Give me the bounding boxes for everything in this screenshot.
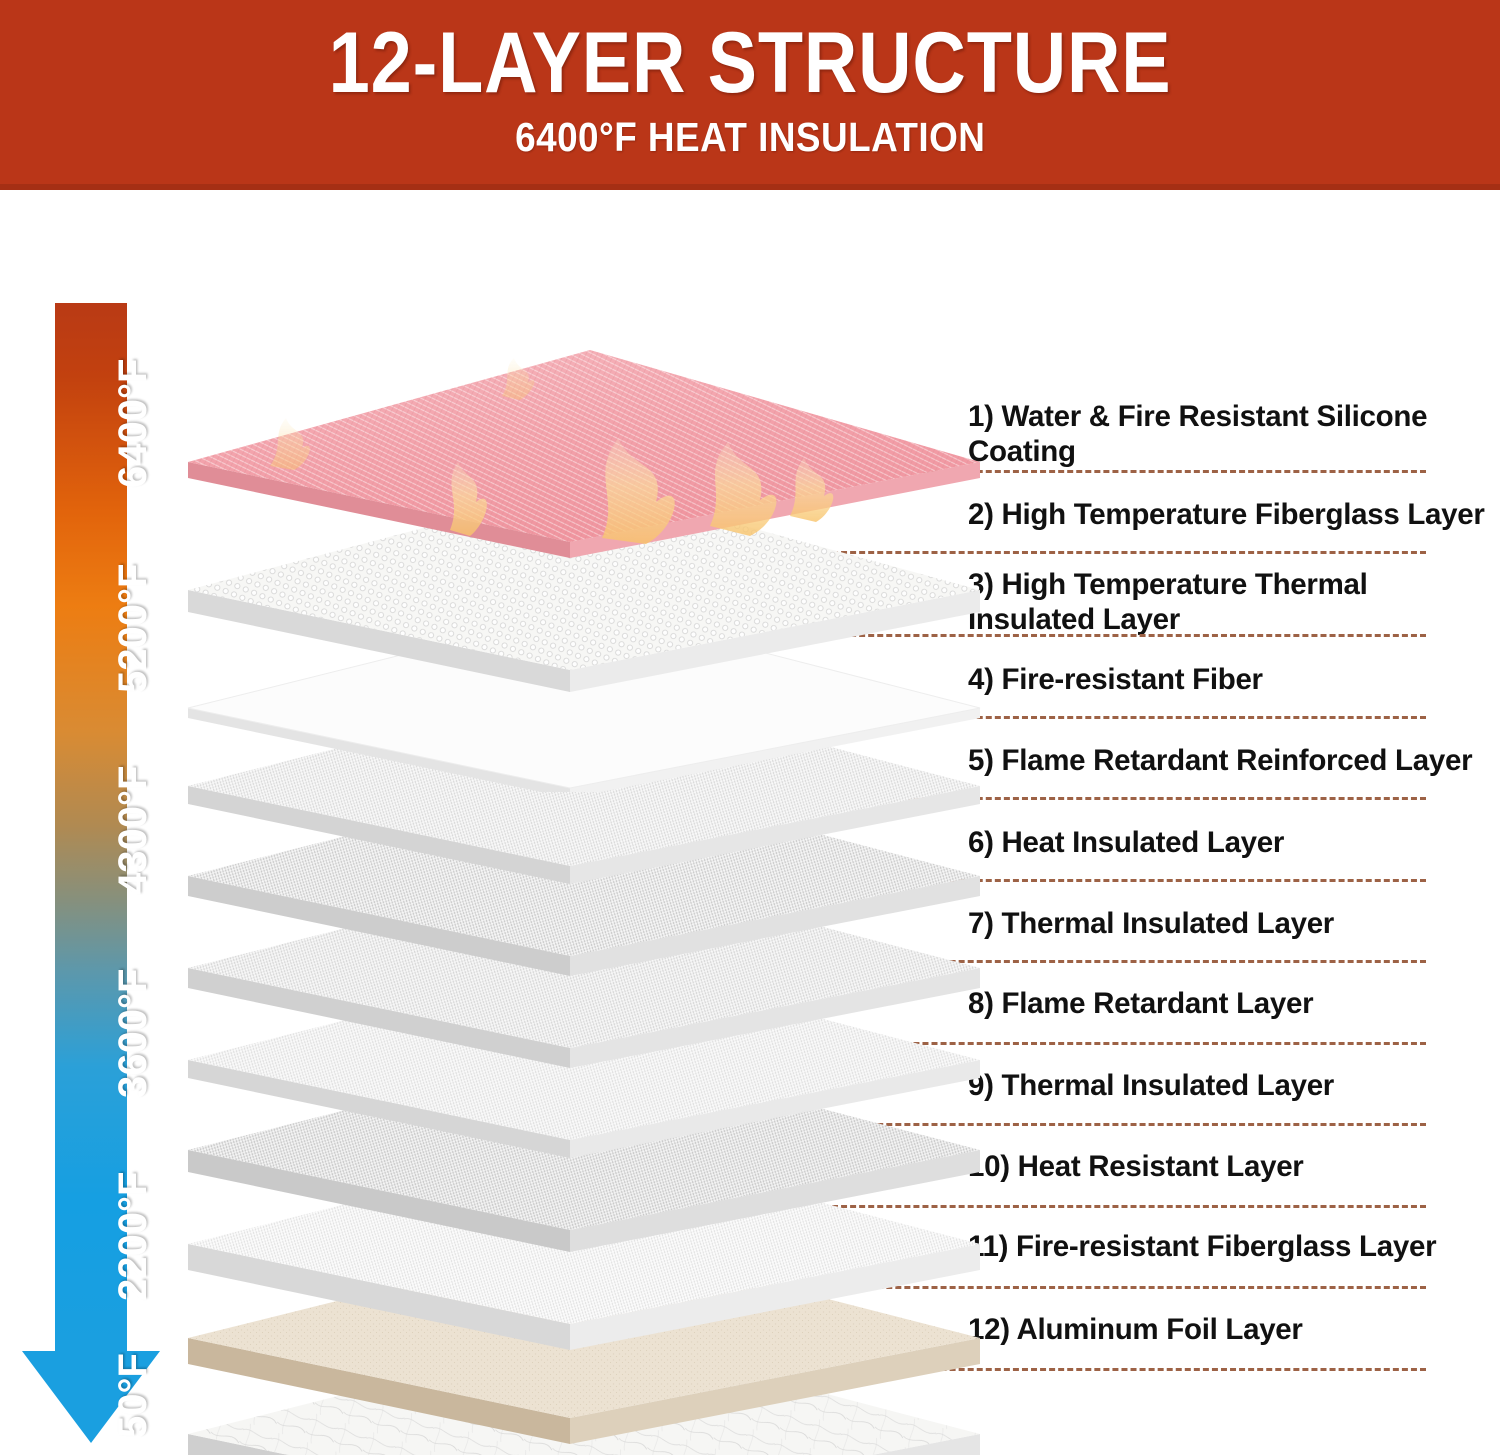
layer-label-2[interactable]: 2) High Temperature Fiberglass Layer — [968, 498, 1488, 533]
layer-label-12-text: 12) Aluminum Foil Layer — [968, 1313, 1488, 1348]
layer-label-7-text: 7) Thermal Insulated Layer — [968, 907, 1488, 942]
layer-label-4[interactable]: 4) Fire-resistant Fiber — [968, 663, 1488, 698]
layer-label-9-text: 9) Thermal Insulated Layer — [968, 1069, 1488, 1104]
infographic-root: 12-LAYER STRUCTURE 6400°F HEAT INSULATIO… — [0, 0, 1500, 1455]
layer-label-1[interactable]: 1) Water & Fire Resistant Silicone Coati… — [968, 400, 1488, 469]
layer-stack-diagram: ROTOWAY MAKE LIFE EASY AND FUN — [150, 330, 1020, 1420]
layer-label-8[interactable]: 8) Flame Retardant Layer — [968, 987, 1488, 1022]
layer-label-5-text: 5) Flame Retardant Reinforced Layer — [968, 744, 1488, 779]
page-title: 12-LAYER STRUCTURE — [329, 23, 1172, 105]
layer-label-10-text: 10) Heat Resistant Layer — [968, 1150, 1488, 1185]
layer-label-2-text: 2) High Temperature Fiberglass Layer — [968, 498, 1488, 533]
layer-label-8-text: 8) Flame Retardant Layer — [968, 987, 1488, 1022]
layer-label-6-text: 6) Heat Insulated Layer — [968, 826, 1488, 861]
layer-label-11[interactable]: 11) Fire-resistant Fiberglass Layer — [968, 1230, 1488, 1265]
layer-label-9[interactable]: 9) Thermal Insulated Layer — [968, 1069, 1488, 1104]
layer-label-6[interactable]: 6) Heat Insulated Layer — [968, 826, 1488, 861]
layer-label-1-text: 1) Water & Fire Resistant Silicone Coati… — [968, 400, 1488, 469]
layer-label-7[interactable]: 7) Thermal Insulated Layer — [968, 907, 1488, 942]
page-subtitle: 6400°F HEAT INSULATION — [515, 114, 985, 161]
layer-slab-1 — [150, 330, 1020, 590]
layer-label-3-text: 3) High Temperature Thermal Insulated La… — [968, 568, 1488, 637]
layer-label-5[interactable]: 5) Flame Retardant Reinforced Layer — [968, 744, 1488, 779]
layer-label-10[interactable]: 10) Heat Resistant Layer — [968, 1150, 1488, 1185]
temperature-scale-arrow: 6400°F 5200°F 4300°F 3600°F 2200°F 50°F — [55, 303, 127, 1443]
layer-label-4-text: 4) Fire-resistant Fiber — [968, 663, 1488, 698]
layer-label-12[interactable]: 12) Aluminum Foil Layer — [968, 1313, 1488, 1348]
header-banner: 12-LAYER STRUCTURE 6400°F HEAT INSULATIO… — [0, 0, 1500, 190]
layer-label-11-text: 11) Fire-resistant Fiberglass Layer — [968, 1230, 1488, 1265]
layer-label-3[interactable]: 3) High Temperature Thermal Insulated La… — [968, 568, 1488, 637]
